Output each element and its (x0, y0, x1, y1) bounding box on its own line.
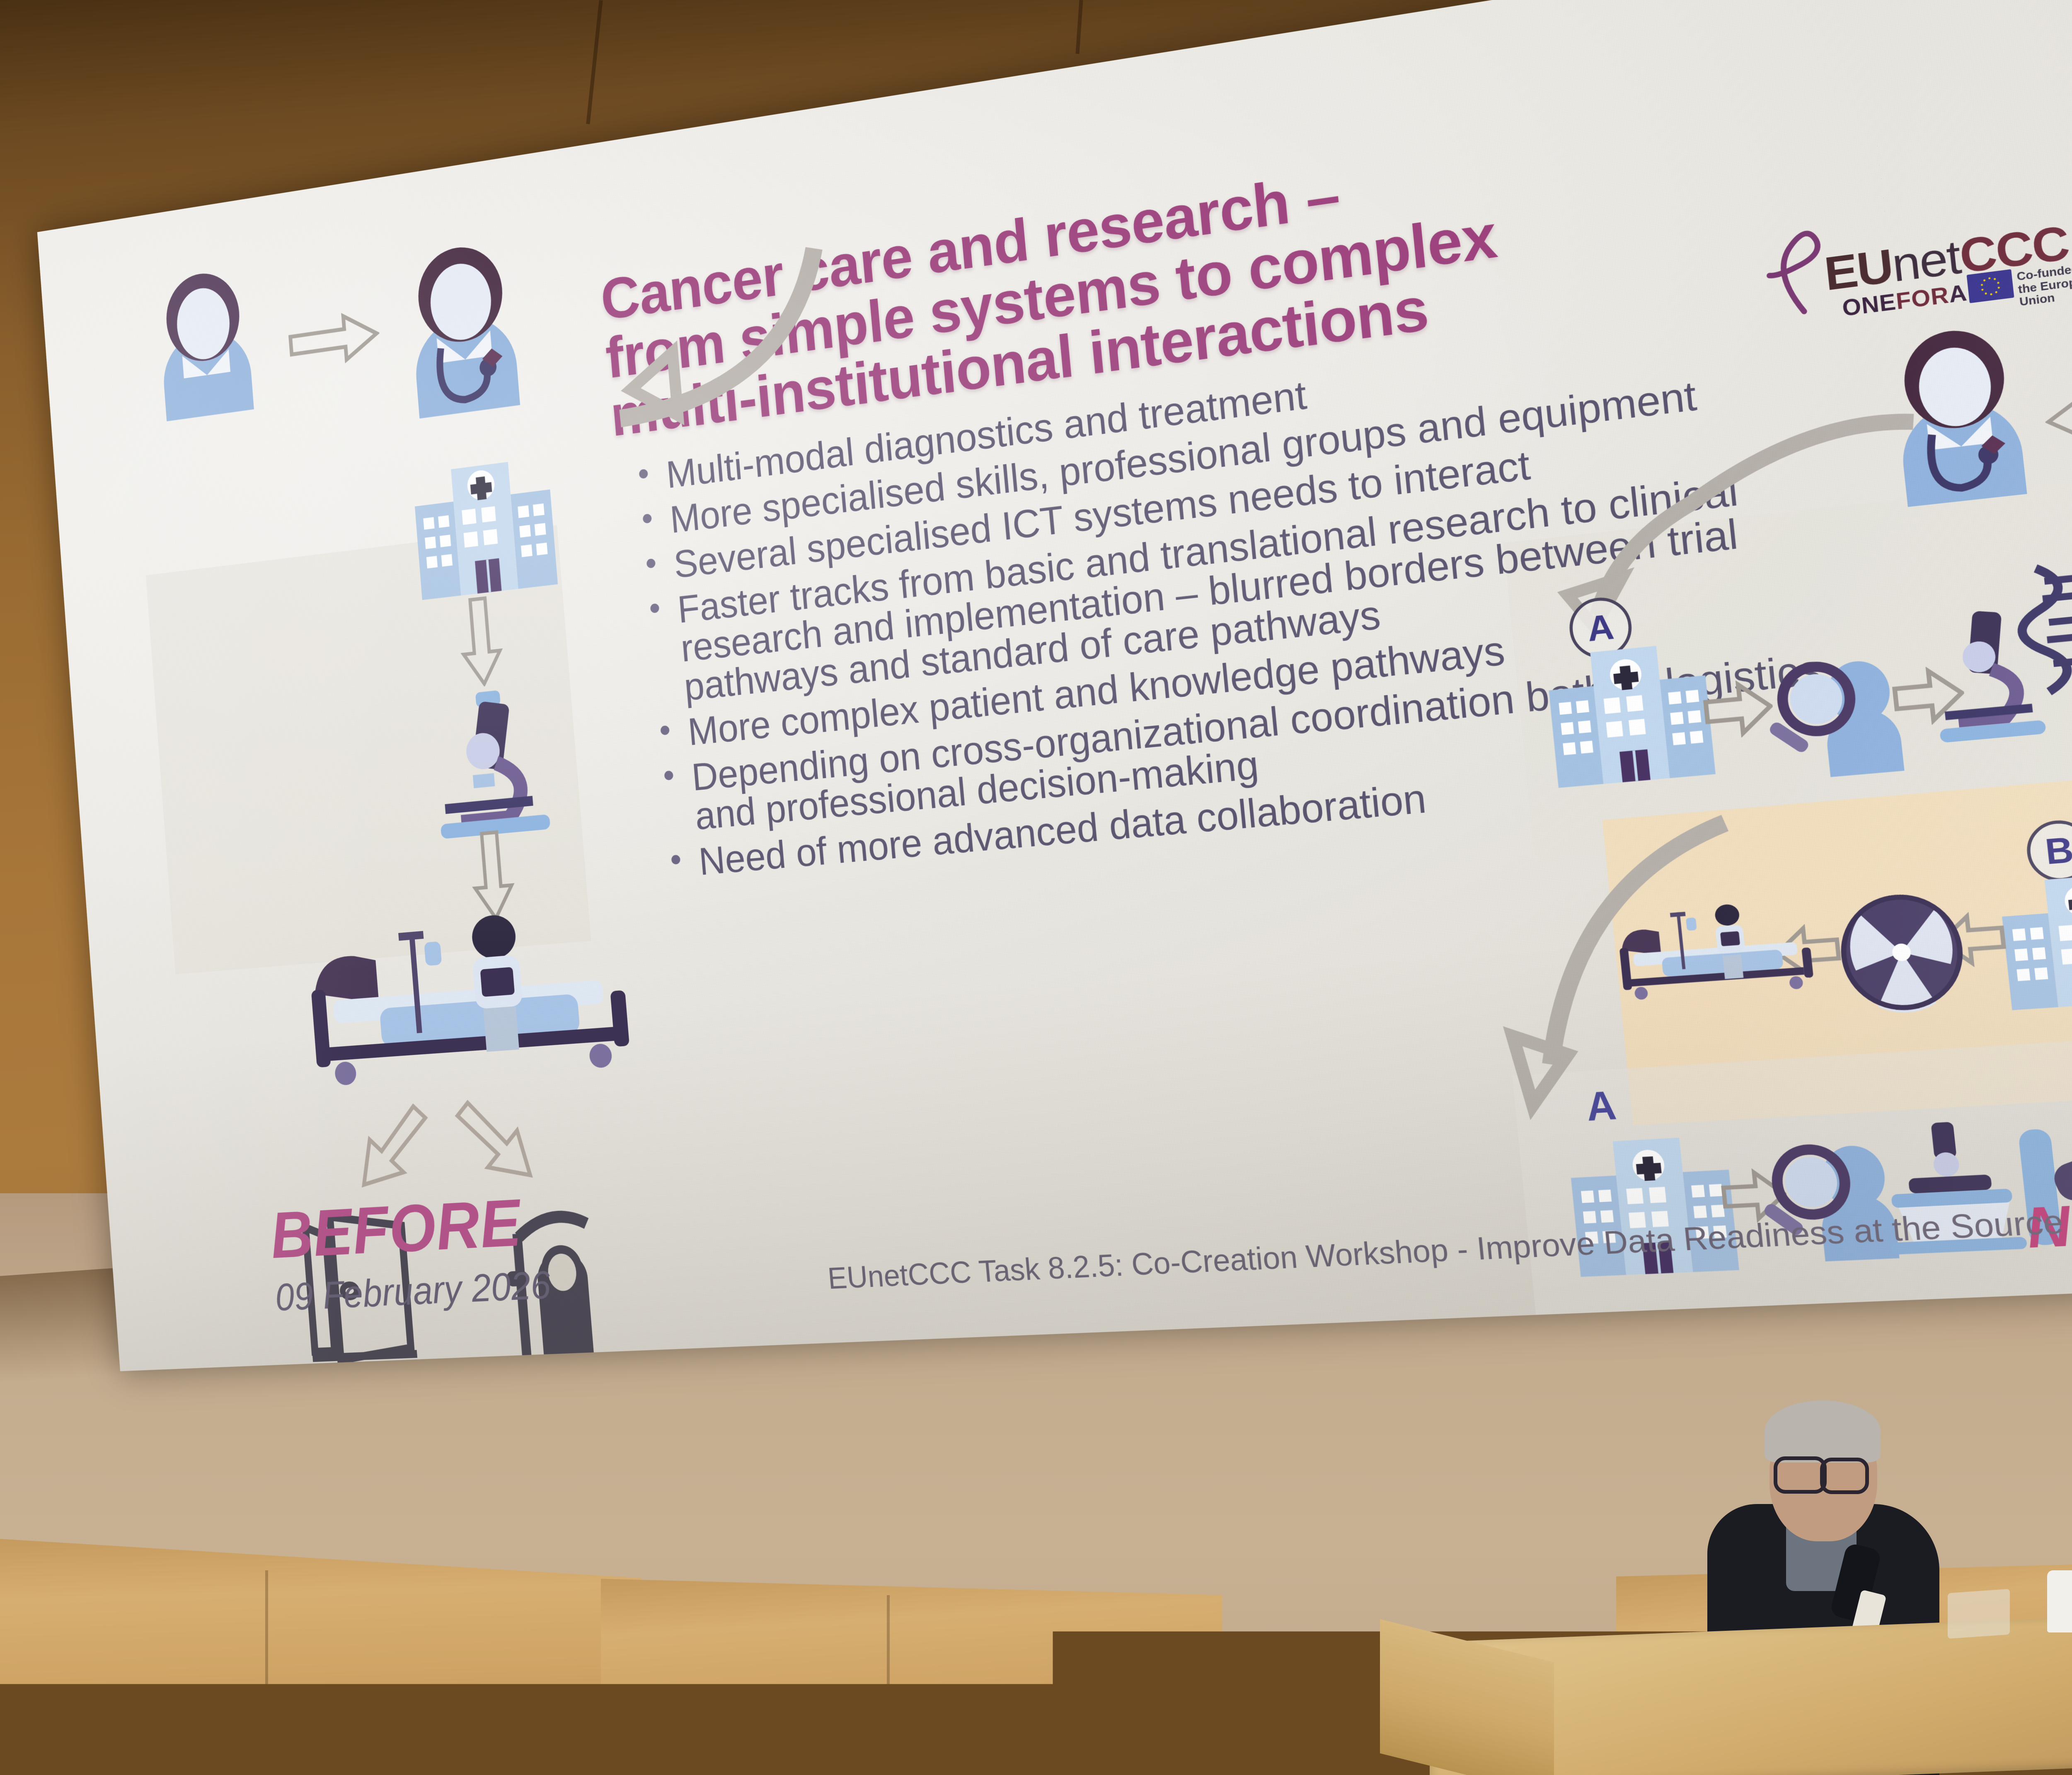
wood-panel-mid (601, 1579, 1222, 1775)
eu-flag-icon (1967, 269, 2014, 303)
glass-object (1948, 1589, 2010, 1639)
water-bottle (2047, 1570, 2072, 1632)
arrow-right-icon (287, 305, 382, 374)
ribbon-icon (1758, 207, 1829, 323)
wood-seam (265, 1570, 268, 1775)
screenshot-root: Cancer care and research – from simple s… (0, 0, 2072, 1775)
wood-seam (887, 1595, 890, 1775)
microscope-dna-icon (1921, 534, 2072, 764)
hospital-a-icon (1535, 621, 1725, 794)
presenter-hair (1765, 1400, 1881, 1463)
radiotherapy-icon (1830, 885, 1974, 1019)
glasses-icon (1774, 1456, 1827, 1494)
wood-panel-left (0, 1538, 642, 1775)
hospital-icon (404, 439, 566, 605)
tagline-for: FOR (1895, 282, 1950, 314)
before-label: BEFORE (268, 1185, 524, 1273)
hospital-bed-icon (291, 880, 666, 1111)
projection-screen: Cancer care and research – from simple s… (0, 62, 2072, 1326)
microscope-icon (414, 670, 579, 849)
arrow-down-left-icon (327, 1095, 437, 1202)
curved-arrow-icon (1470, 808, 1778, 1133)
presentation-slide: Cancer care and research – from simple s… (37, 0, 2072, 1371)
glasses-icon (1820, 1458, 1869, 1494)
arrow-down-icon (450, 594, 511, 689)
arrow-down-right-icon (450, 1087, 564, 1196)
patient-icon (127, 251, 284, 433)
